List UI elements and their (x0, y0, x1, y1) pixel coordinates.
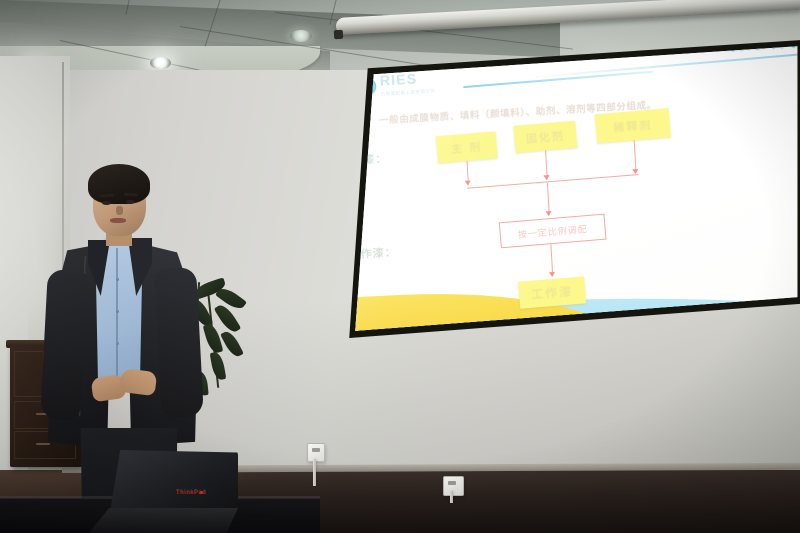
arrow-hardener-head (543, 175, 549, 180)
arrow-merge-bus (467, 174, 639, 189)
downlight-center-icon (150, 57, 171, 69)
projector-screen[interactable]: 油漆种类 RIES 日照瑞耐斯工贸有限公司 一 (340, 40, 800, 338)
socket-slot-icon (448, 481, 456, 485)
arrow-hardener-stem (545, 150, 548, 177)
eye-left (102, 201, 111, 205)
socket-cable-right (450, 491, 453, 503)
downlight-right-dim-icon (290, 30, 312, 42)
eye-right (126, 200, 135, 204)
shirt-button (116, 278, 119, 281)
socket-slot-icon (312, 448, 320, 452)
component-box-main-agent: 主 剂 (435, 131, 497, 163)
wall-socket-left[interactable] (307, 443, 325, 462)
logo-subtext: 日照瑞耐斯工贸有限公司 (380, 88, 435, 97)
hair (88, 164, 150, 204)
socket-cable-left (313, 459, 316, 486)
arrow-to-result-head (549, 272, 555, 277)
arm-left (40, 269, 88, 421)
mouth (110, 218, 126, 223)
screen-roller-endcap (334, 30, 343, 39)
laptop[interactable]: ThinkPad (88, 450, 238, 533)
thinkpad-logo-dot-icon (200, 491, 203, 494)
screen-surface: 油漆种类 RIES 日照瑞耐斯工贸有限公司 一 (340, 40, 800, 338)
result-box-working-paint: 工作漆 (518, 276, 586, 308)
shirt-button (116, 310, 119, 313)
arrow-to-process-head (545, 211, 551, 216)
wall-socket-right[interactable] (443, 476, 464, 496)
arrow-main-agent-head (464, 181, 470, 186)
plant-leaf (220, 329, 244, 359)
arm-right (154, 267, 204, 419)
shirt-button (116, 342, 119, 345)
slide-title-underline (530, 51, 800, 78)
component-box-thinner: 稀释剂 (594, 108, 670, 143)
laptop-lid: ThinkPad (110, 450, 238, 512)
hand-right (119, 368, 158, 396)
presentation-room-photo: 油漆种类 RIES 日照瑞耐斯工贸有限公司 一 (0, 0, 800, 533)
shirt-placket (116, 248, 118, 383)
arrow-thinner-stem (633, 140, 636, 171)
component-box-hardener: 固化剂 (513, 121, 577, 153)
nose (116, 206, 123, 215)
arrow-main-agent-stem (466, 161, 469, 183)
laptop-base (88, 508, 238, 533)
process-box-mix-ratio: 按一定比例调配 (498, 214, 606, 249)
slide-content: 油漆种类 RIES 日照瑞耐斯工贸有限公司 一 (340, 40, 800, 338)
row-label-raw-paint: 原漆： (350, 150, 387, 168)
room: 油漆种类 RIES 日照瑞耐斯工贸有限公司 一 (0, 0, 800, 533)
